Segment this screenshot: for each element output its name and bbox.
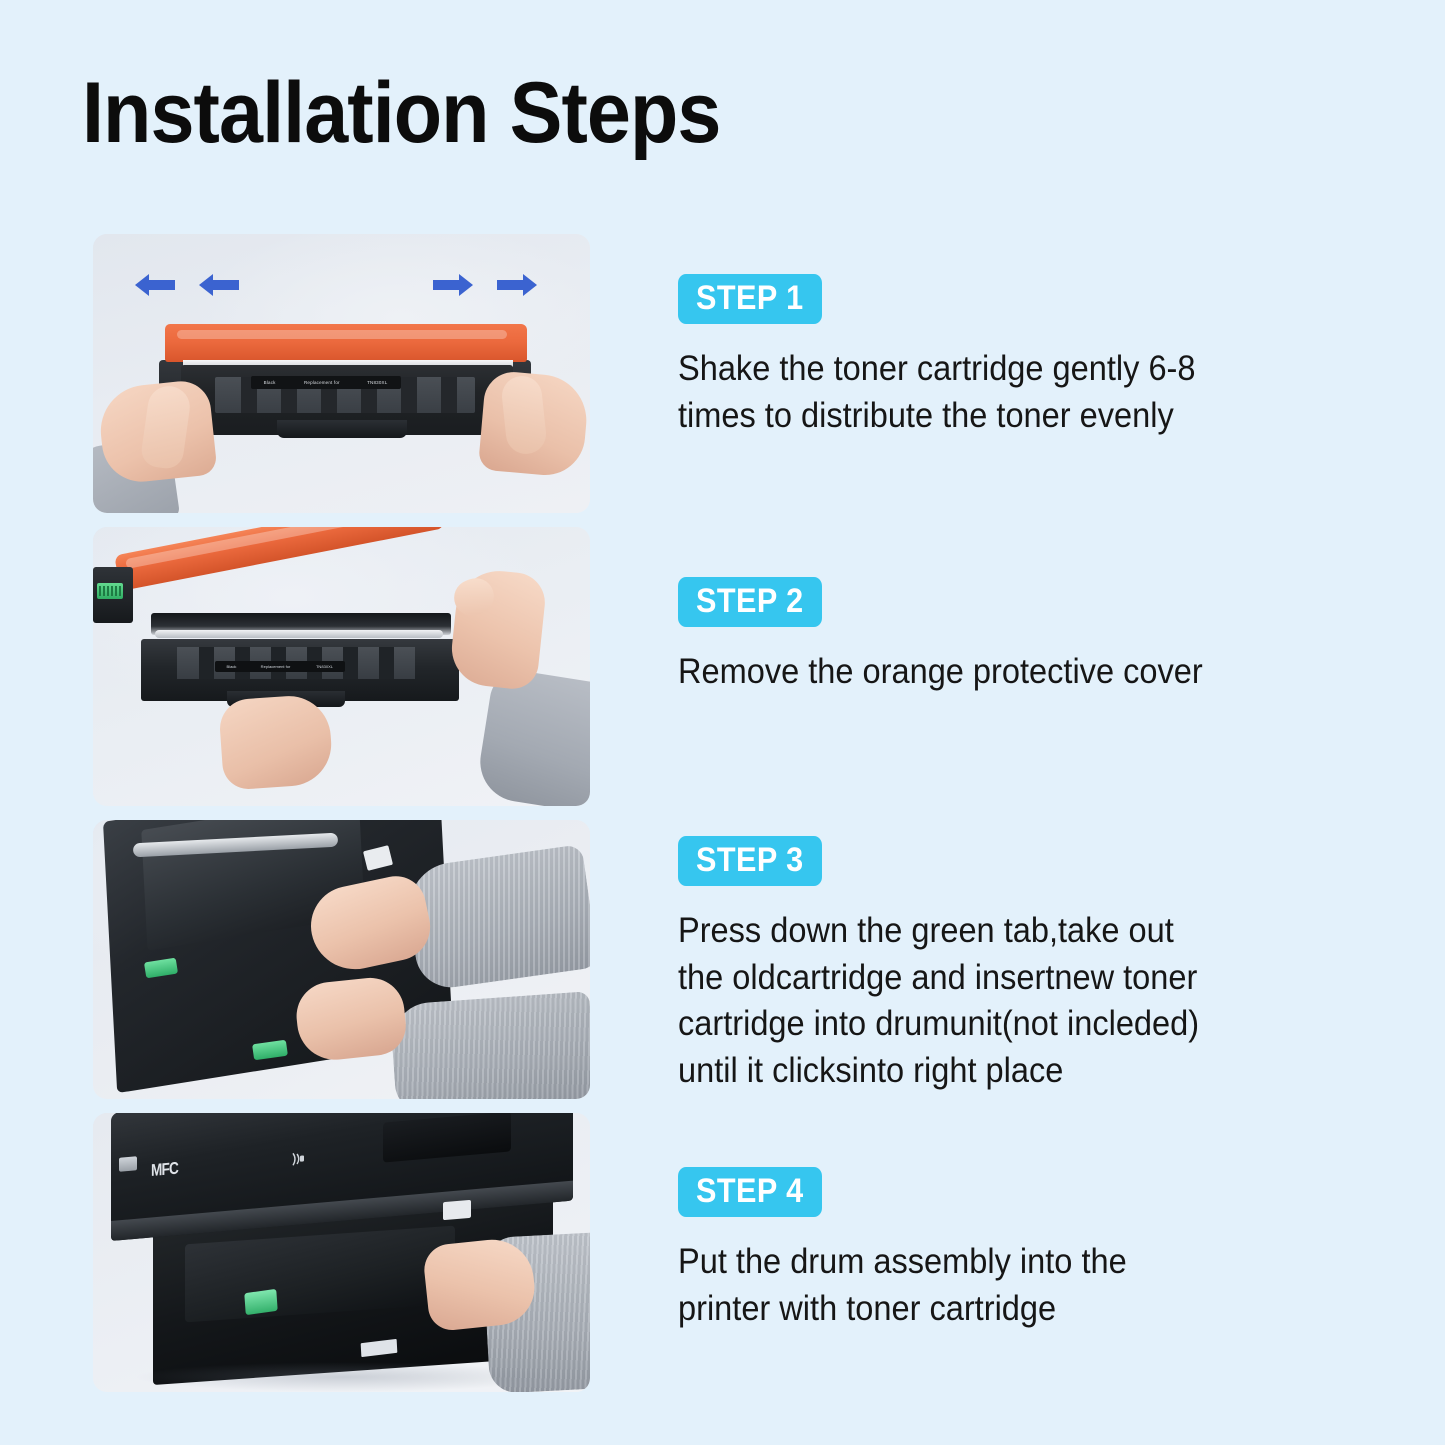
nfc-icon bbox=[289, 1150, 305, 1167]
step-4-photo: MFC bbox=[93, 1113, 590, 1392]
green-chip bbox=[97, 583, 123, 599]
step-description-1: Shake the toner cartridge gently 6-8 tim… bbox=[678, 346, 1366, 439]
step-3-photo bbox=[93, 820, 590, 1099]
step-badge-4: STEP 4 bbox=[678, 1167, 822, 1217]
step-1-photo: Black Replacement for TN830XL bbox=[93, 234, 590, 513]
sleeve bbox=[475, 667, 590, 806]
cartridge-label: Black Replacement for TN830XL bbox=[215, 661, 345, 672]
toner-cartridge: Black Replacement for TN830XL bbox=[159, 324, 531, 442]
hand-lower bbox=[293, 975, 409, 1064]
cartridge-label-right: TN830XL bbox=[316, 664, 333, 669]
cartridge-label-right: TN830XL bbox=[367, 380, 387, 385]
cartridge-label-mid: Replacement for bbox=[303, 380, 339, 385]
step-badge-1: STEP 1 bbox=[678, 274, 822, 324]
cartridge-label-left: Black bbox=[264, 380, 276, 385]
page-title: Installation Steps bbox=[82, 68, 721, 158]
printer-logo: MFC bbox=[151, 1159, 178, 1181]
step-3-text: STEP 3 Press down the green tab,take out… bbox=[678, 812, 1368, 1094]
step-1-text: STEP 1 Shake the toner cartridge gently … bbox=[678, 226, 1368, 439]
step-2-photo: Black Replacement for TN830XL bbox=[93, 527, 590, 806]
step-description-3: Press down the green tab,take out the ol… bbox=[678, 908, 1366, 1094]
cartridge-label: Black Replacement for TN830XL bbox=[251, 376, 401, 389]
arrow-right-icon bbox=[433, 272, 473, 298]
step-description-2: Remove the orange protective cover bbox=[678, 649, 1366, 696]
sleeve bbox=[389, 991, 590, 1099]
step-description-4: Put the drum assembly into the printer w… bbox=[678, 1239, 1366, 1332]
cartridge-label-mid: Replacement for bbox=[261, 664, 291, 669]
arrow-left-icon bbox=[135, 272, 175, 298]
step-4-text: STEP 4 Put the drum assembly into the pr… bbox=[678, 1105, 1368, 1332]
step-badge-3: STEP 3 bbox=[678, 836, 822, 886]
installation-steps-page: Installation Steps bbox=[0, 0, 1445, 1445]
green-tab bbox=[244, 1289, 277, 1315]
cartridge-label-left: Black bbox=[227, 664, 237, 669]
printer-badge-icon bbox=[119, 1156, 137, 1172]
step-badge-2: STEP 2 bbox=[678, 577, 822, 627]
arrow-right-icon bbox=[497, 272, 537, 298]
printer-sticker bbox=[443, 1200, 471, 1220]
arrow-left-icon bbox=[199, 272, 239, 298]
step-2-text: STEP 2 Remove the orange protective cove… bbox=[678, 519, 1368, 696]
